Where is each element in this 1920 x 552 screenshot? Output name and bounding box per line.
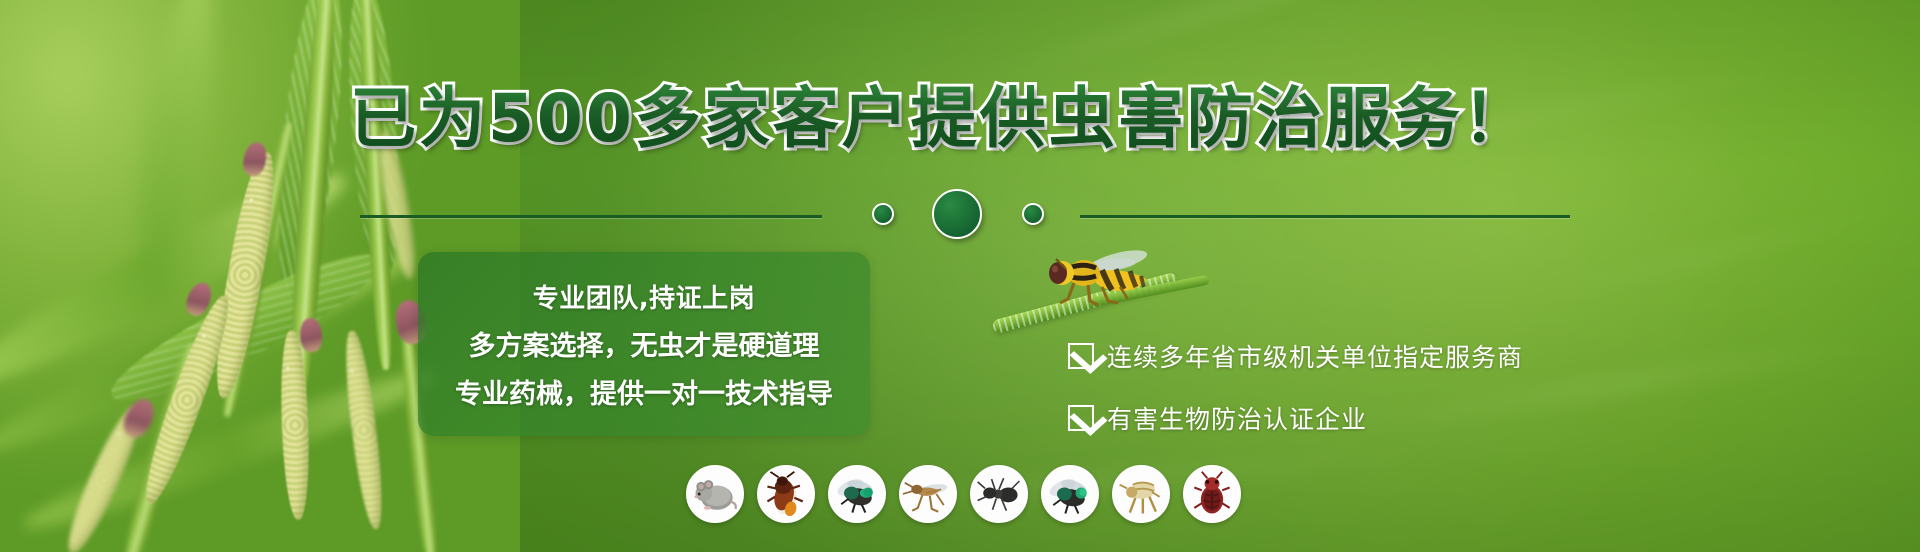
pest-control-hero-banner: 已为500多家客户提供虫害防治服务！ 已为500多家客户提供虫害防治服务！ 专业… bbox=[0, 0, 1920, 552]
hoverfly-icon bbox=[1040, 243, 1170, 313]
mouse-icon bbox=[686, 465, 744, 523]
flea-icon bbox=[1112, 465, 1170, 523]
promo-panel-text: 专业团队,持证上岗 多方案选择，无虫才是硬道理 专业药械，提供一对一技术指导 bbox=[418, 252, 870, 436]
decor-dot-large bbox=[932, 189, 982, 239]
decor-dot-small-left bbox=[872, 203, 894, 225]
checkbox-checked-icon bbox=[1068, 343, 1094, 369]
promo-line-3: 专业药械，提供一对一技术指导 bbox=[455, 372, 833, 411]
divider-right bbox=[1080, 215, 1570, 218]
bedbug-icon bbox=[1183, 465, 1241, 523]
ant-icon bbox=[970, 465, 1028, 523]
cockroach-icon bbox=[757, 465, 815, 523]
credentials-list: 连续多年省市级机关单位指定服务商 有害生物防治认证企业 bbox=[1068, 338, 1523, 436]
list-item: 连续多年省市级机关单位指定服务商 bbox=[1068, 338, 1523, 374]
checkbox-checked-icon bbox=[1068, 405, 1094, 431]
decor-dot-small-right bbox=[1022, 203, 1044, 225]
page-title: 已为500多家客户提供虫害防治服务！ bbox=[350, 78, 1580, 160]
list-item: 有害生物防治认证企业 bbox=[1068, 400, 1523, 436]
promo-line-1: 专业团队,持证上岗 bbox=[533, 278, 755, 315]
pest-type-icon-row bbox=[686, 465, 1241, 523]
list-item-label: 连续多年省市级机关单位指定服务商 bbox=[1107, 338, 1523, 374]
mosquito-icon bbox=[899, 465, 957, 523]
list-item-label: 有害生物防治认证企业 bbox=[1107, 400, 1367, 436]
fly-icon bbox=[828, 465, 886, 523]
greenfly-icon bbox=[1041, 465, 1099, 523]
divider-left bbox=[360, 215, 822, 218]
promo-line-2: 多方案选择，无虫才是硬道理 bbox=[469, 324, 820, 363]
